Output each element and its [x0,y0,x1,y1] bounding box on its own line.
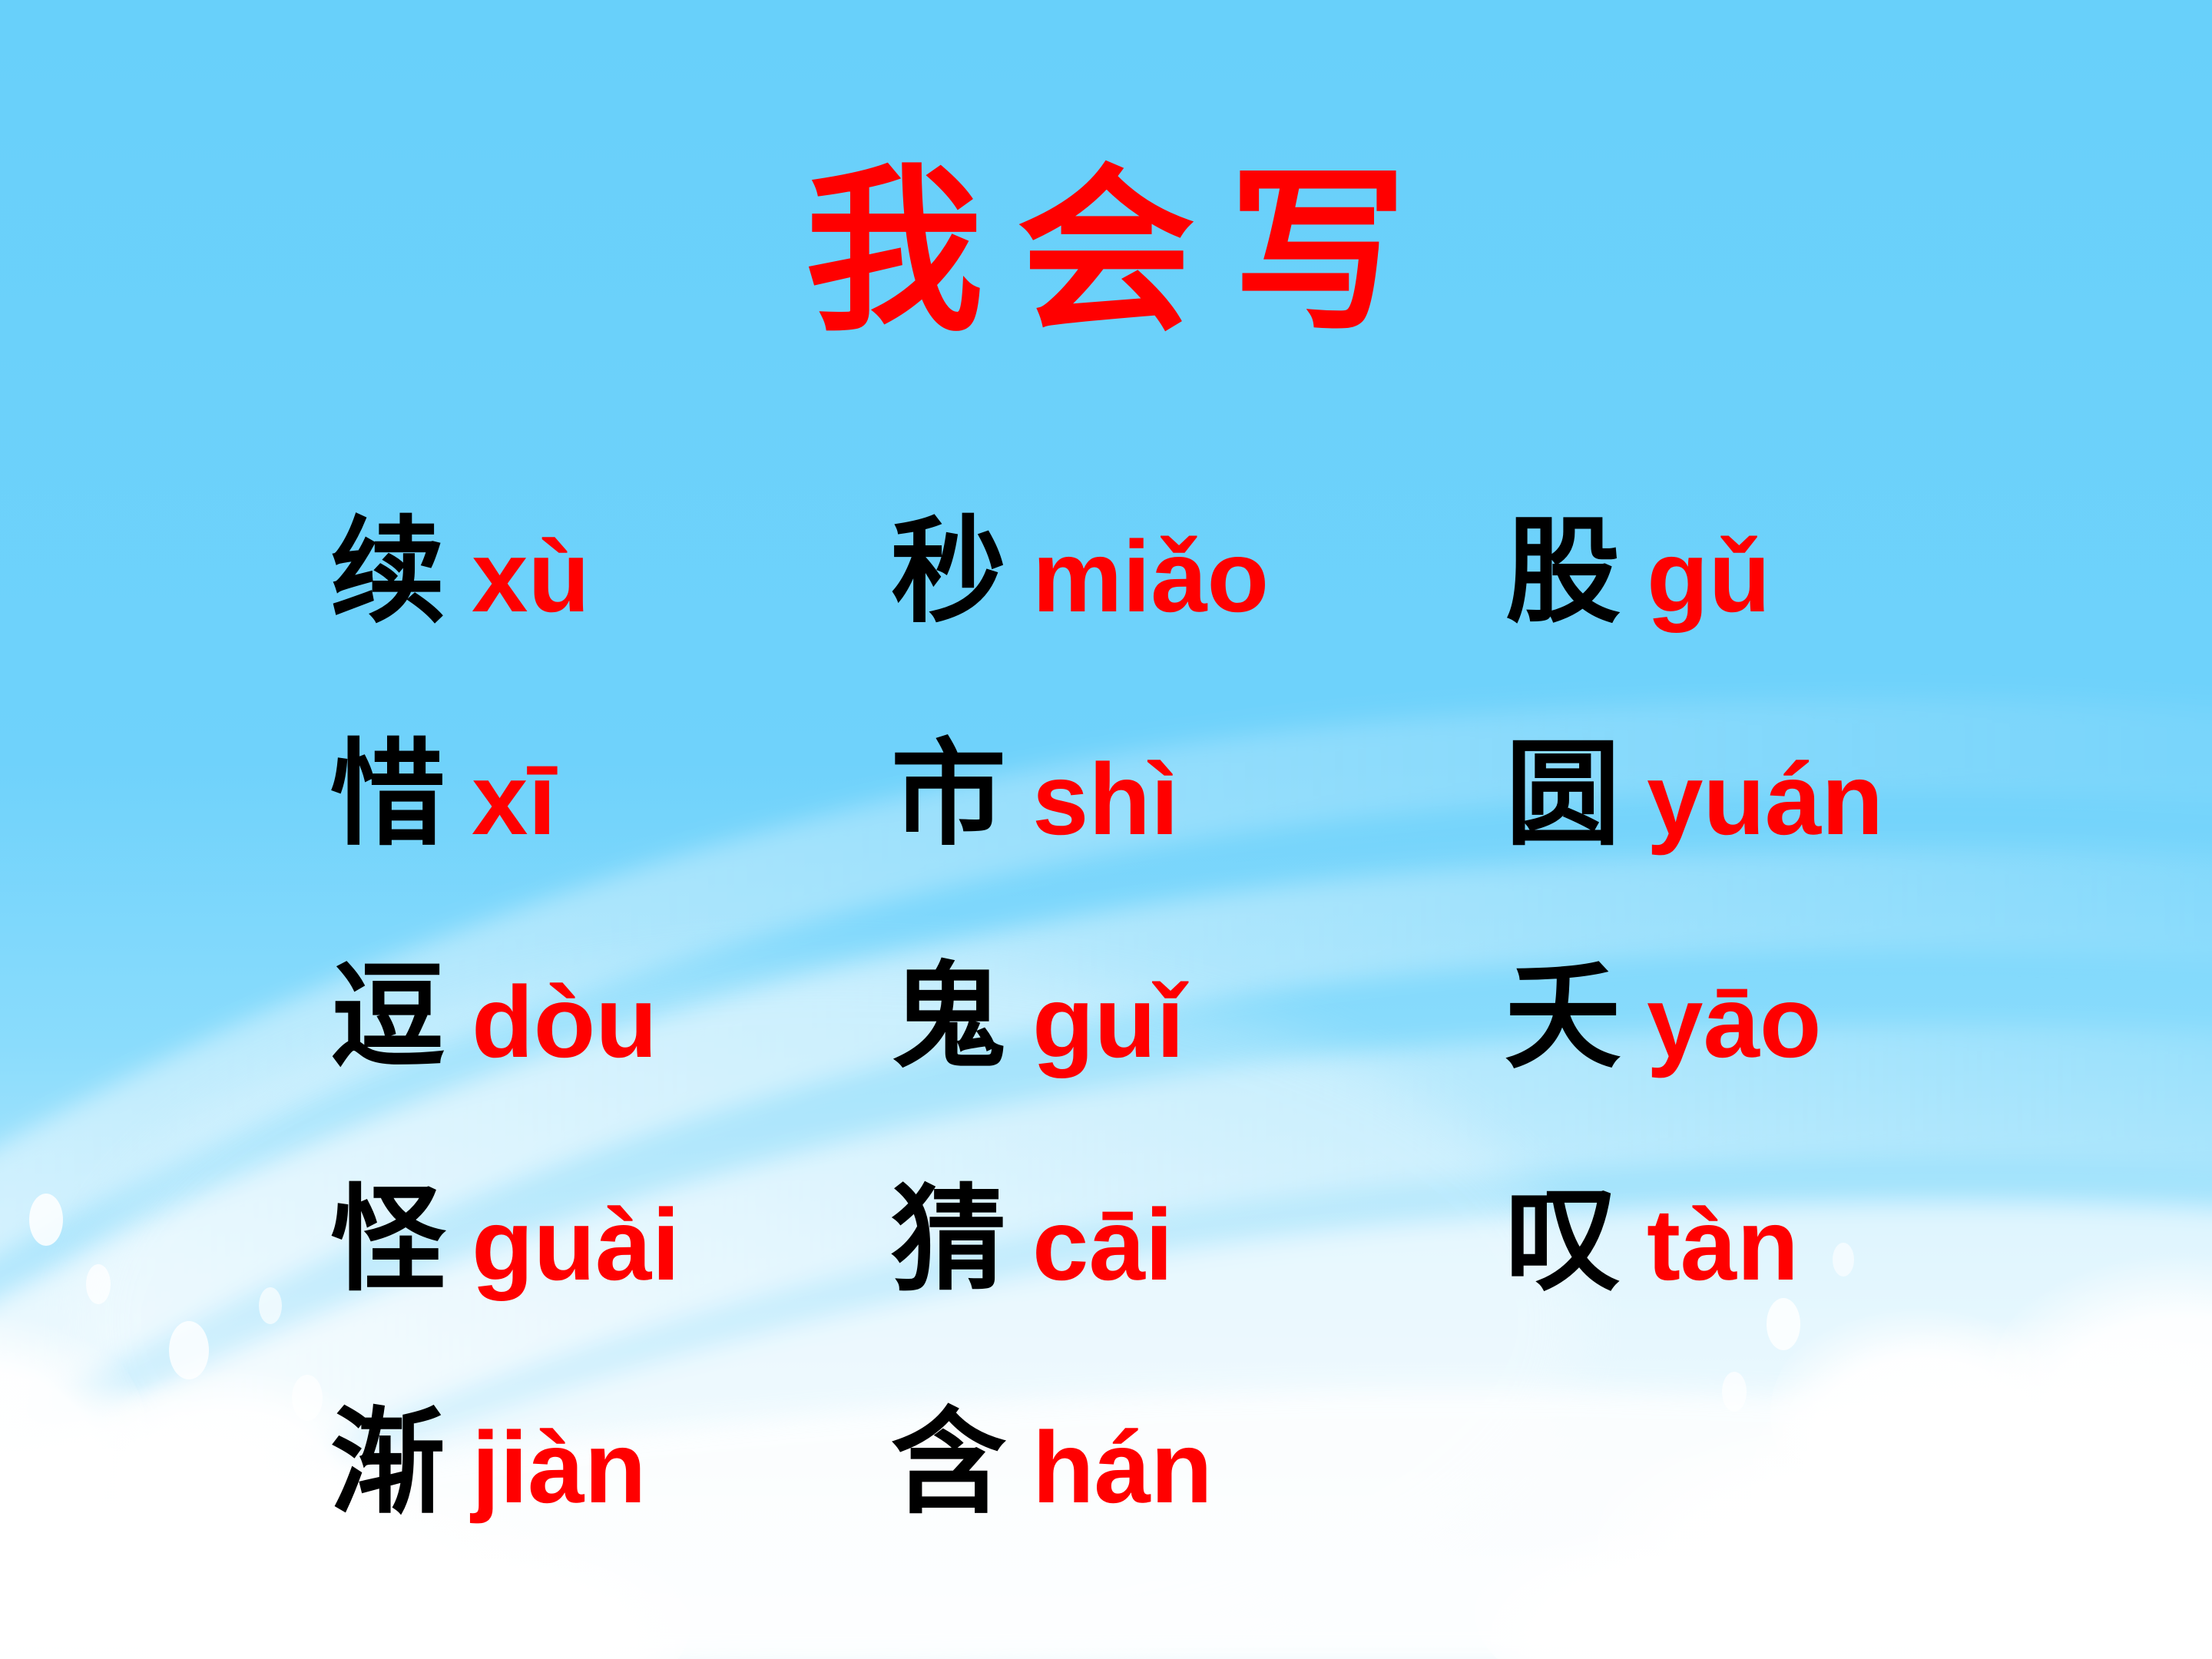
page-title: 我会写 [771,159,1441,346]
word-entry[interactable]: 股gǔ [1505,515,2128,630]
hanzi-character: 市 [891,737,1006,853]
hanzi-character: 股 [1505,515,1621,630]
word-list-grid: 续xù秒miǎo股gǔ惜xī市shì圆yuán逗dòu鬼guǐ夭yāo怪guài… [330,461,2128,1575]
word-entry[interactable]: 夭yāo [1505,960,2128,1075]
word-entry[interactable]: 市shì [891,737,1505,853]
hanzi-character: 渐 [330,1406,445,1521]
hanzi-character: 续 [330,515,445,630]
hanzi-character: 叹 [1505,1183,1621,1298]
word-entry[interactable]: 叹tàn [1505,1183,2128,1298]
word-entry[interactable]: 续xù [330,515,891,630]
pinyin-reading: miǎo [1032,526,1269,628]
word-entry[interactable]: 猜cāi [891,1183,1505,1298]
slide-canvas: 我会写 续xù秒miǎo股gǔ惜xī市shì圆yuán逗dòu鬼guǐ夭yāo怪… [0,0,2212,1659]
word-entry[interactable]: 惜xī [330,737,891,853]
word-entry[interactable]: 含hán [891,1406,1505,1521]
pinyin-reading: yāo [1647,972,1821,1073]
word-entry[interactable]: 鬼guǐ [891,960,1505,1075]
hanzi-character: 猜 [891,1183,1006,1298]
pinyin-reading: jiàn [472,1417,646,1518]
pinyin-reading: shì [1032,749,1179,850]
word-entry[interactable]: 怪guài [330,1183,891,1298]
hanzi-character: 惜 [330,737,445,853]
pinyin-reading: guài [472,1194,680,1296]
pinyin-reading: tàn [1647,1194,1799,1296]
hanzi-character: 秒 [891,515,1006,630]
pinyin-reading: yuán [1647,749,1883,850]
title-area: 我会写 [0,40,2212,465]
hanzi-character: 逗 [330,960,445,1075]
hanzi-character: 圆 [1505,737,1621,853]
hanzi-character: 鬼 [891,960,1006,1075]
word-entry[interactable]: 圆yuán [1505,737,2128,853]
pinyin-reading: cāi [1032,1194,1174,1296]
pinyin-reading: dòu [472,972,657,1073]
pinyin-reading: gǔ [1647,526,1770,628]
hanzi-character: 怪 [330,1183,445,1298]
word-entry[interactable]: 秒miǎo [891,515,1505,630]
word-entry[interactable]: 逗dòu [330,960,891,1075]
pinyin-reading: guǐ [1032,972,1184,1073]
pinyin-reading: xī [472,749,556,850]
pinyin-reading: xù [472,526,590,628]
pinyin-reading: hán [1032,1417,1213,1518]
word-entry[interactable]: 渐jiàn [330,1406,891,1521]
hanzi-character: 含 [891,1406,1006,1521]
hanzi-character: 夭 [1505,960,1621,1075]
